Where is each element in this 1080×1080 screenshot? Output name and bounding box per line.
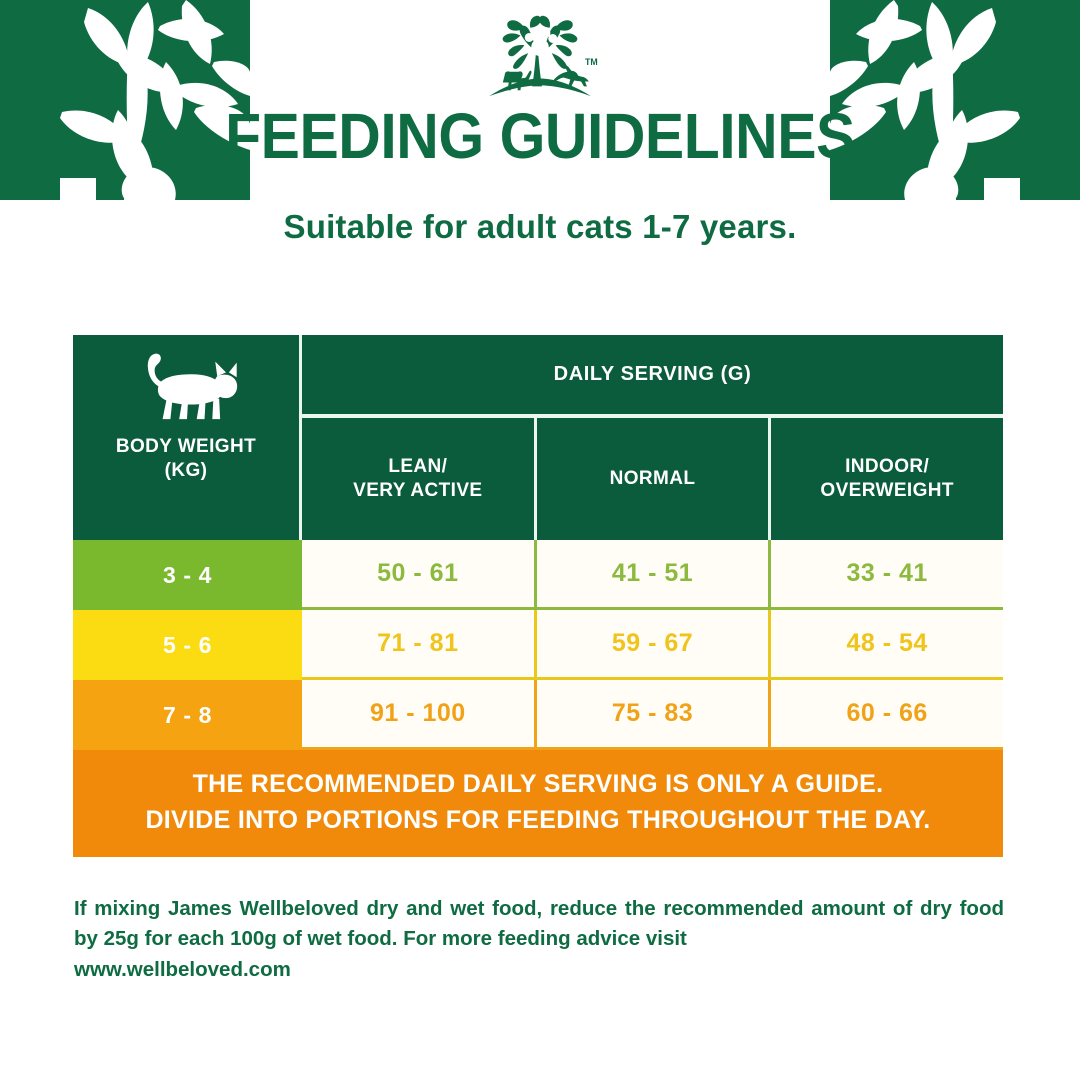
column-headers: LEAN/ VERY ACTIVE NORMAL INDOOR/ OVERWEI… — [302, 418, 1003, 540]
trademark-mark: TM — [585, 57, 598, 67]
serving-cell: 91 - 100 — [302, 680, 534, 750]
serving-cell: 60 - 66 — [768, 680, 1003, 750]
body-weight-label-line1: BODY WEIGHT — [116, 436, 256, 457]
serving-cell: 75 - 83 — [534, 680, 769, 750]
column-header-lean-line1: LEAN/ — [388, 456, 447, 477]
body-weight-label: BODY WEIGHT (KG) — [116, 435, 256, 483]
feeding-guidelines-table: BODY WEIGHT (KG) DAILY SERVING (G) LEAN/… — [73, 335, 1003, 857]
guide-banner: THE RECOMMENDED DAILY SERVING IS ONLY A … — [73, 750, 1003, 857]
column-header-indoor-line1: INDOOR/ — [845, 456, 929, 477]
footnote-body: If mixing James Wellbeloved dry and wet … — [74, 897, 1004, 950]
leaf-decoration-right — [830, 0, 1080, 200]
footnote-website[interactable]: www.wellbeloved.com — [74, 955, 1004, 985]
body-weight-label-line2: (KG) — [165, 460, 208, 481]
serving-cell: 59 - 67 — [534, 610, 769, 680]
footnote: If mixing James Wellbeloved dry and wet … — [74, 894, 1004, 985]
serving-cells: 50 - 6141 - 5133 - 41 — [302, 540, 1003, 610]
leaf-decoration-left — [0, 0, 250, 200]
table-header: BODY WEIGHT (KG) DAILY SERVING (G) LEAN/… — [73, 335, 1003, 540]
column-header-indoor-overweight: INDOOR/ OVERWEIGHT — [768, 418, 1003, 540]
tree-paw-logo-icon: TM — [489, 16, 598, 96]
weight-cell: 7 - 8 — [73, 680, 302, 750]
serving-cell: 48 - 54 — [768, 610, 1003, 680]
column-header-lean-line2: VERY ACTIVE — [353, 480, 482, 501]
column-header-normal-line1: NORMAL — [610, 467, 696, 491]
weight-cell: 3 - 4 — [73, 540, 302, 610]
serving-cells: 91 - 10075 - 8360 - 66 — [302, 680, 1003, 750]
table-row: 3 - 450 - 6141 - 5133 - 41 — [73, 540, 1003, 610]
banner-line-1: THE RECOMMENDED DAILY SERVING IS ONLY A … — [93, 766, 983, 802]
serving-cell: 50 - 61 — [302, 540, 534, 610]
weight-cell: 5 - 6 — [73, 610, 302, 680]
banner-line-2: DIVIDE INTO PORTIONS FOR FEEDING THROUGH… — [93, 802, 983, 838]
table-body: 3 - 450 - 6141 - 5133 - 415 - 671 - 8159… — [73, 540, 1003, 750]
column-header-lean-very-active: LEAN/ VERY ACTIVE — [302, 418, 534, 540]
walking-cat-icon — [127, 347, 245, 425]
serving-cells: 71 - 8159 - 6748 - 54 — [302, 610, 1003, 680]
page-title: FEEDING GUIDELINES — [43, 104, 1037, 168]
column-header-normal: NORMAL — [534, 418, 769, 540]
daily-serving-group: DAILY SERVING (G) LEAN/ VERY ACTIVE NORM… — [302, 335, 1003, 540]
table-row: 5 - 671 - 8159 - 6748 - 54 — [73, 610, 1003, 680]
serving-cell: 33 - 41 — [768, 540, 1003, 610]
serving-cell: 71 - 81 — [302, 610, 534, 680]
body-weight-header-cell: BODY WEIGHT (KG) — [73, 335, 302, 540]
daily-serving-title: DAILY SERVING (G) — [302, 335, 1003, 418]
page-subtitle: Suitable for adult cats 1-7 years. — [0, 208, 1080, 246]
brand-logo: TM — [480, 14, 600, 102]
column-header-indoor-line2: OVERWEIGHT — [820, 480, 954, 501]
table-row: 7 - 891 - 10075 - 8360 - 66 — [73, 680, 1003, 750]
serving-cell: 41 - 51 — [534, 540, 769, 610]
